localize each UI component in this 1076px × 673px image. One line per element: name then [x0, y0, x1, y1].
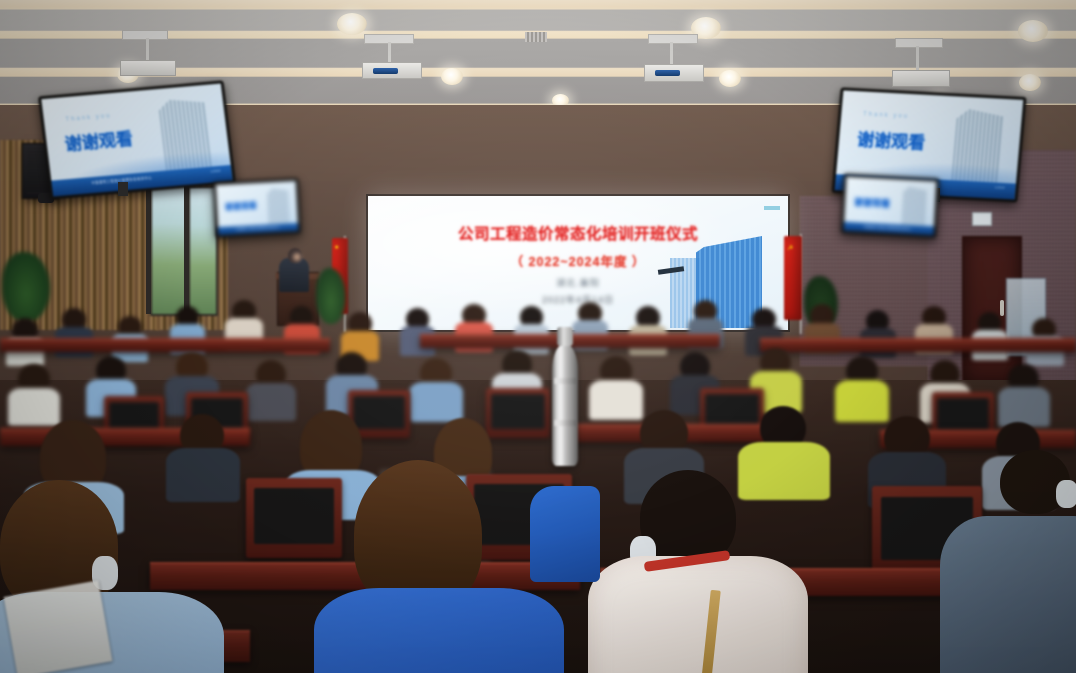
ceiling-air-diffuser [525, 32, 547, 42]
ceiling-projector-stem [388, 42, 391, 64]
left-front-tv: Thank you 谢谢观看 中国建筑工程造价管理协会培训中心 LOGO [38, 80, 236, 199]
tv-slide-text: 谢谢观看 [856, 125, 926, 153]
tv-slide-text: 谢谢观看 [63, 125, 134, 156]
tv-slide-text: 谢谢观看 [225, 200, 258, 213]
tv-panel: 谢谢观看 中国建筑工程造价管理协会培训中心 [216, 181, 299, 235]
ceiling-projector [892, 70, 950, 87]
audience-row-foreground [0, 440, 1076, 673]
tv-footer-bar: 中国建筑工程造价管理协会培训中心 [218, 223, 298, 235]
ceiling-projector [362, 62, 422, 79]
screen-place-label: 湖北.襄阳 [368, 276, 788, 289]
tv-slide-text: 谢谢观看 [854, 195, 891, 210]
tv-ghost-text: Thank you [863, 112, 910, 120]
tv-footer-tag: LOGO [995, 185, 1005, 189]
ceiling-projector [644, 64, 704, 82]
tv-wall-mount [118, 182, 128, 196]
thermos-cap [557, 327, 574, 347]
presenter-body [279, 258, 309, 292]
tv-tower-graphic [902, 186, 927, 226]
ceiling-downlight [337, 13, 367, 35]
projector-lens [655, 70, 679, 76]
ceiling-projector-mount [122, 30, 168, 40]
tv-footer-tag: LOGO [211, 169, 221, 174]
right-rear-tv: 谢谢观看 中国建筑工程造价管理协会培训中心 [840, 174, 939, 239]
ceiling-projector [120, 60, 176, 76]
screen-logo-mark [764, 206, 780, 210]
ceiling-downlight [1018, 20, 1048, 42]
tv-footer-text: 中国建筑工程造价管理协会培训中心 [864, 225, 912, 232]
ceiling-downlight [719, 70, 741, 87]
tv-panel: 谢谢观看 中国建筑工程造价管理协会培训中心 [844, 177, 937, 236]
screen-title: 公司工程造价常态化培训开班仪式 [368, 222, 788, 244]
tv-tower-graphic [267, 187, 290, 224]
thermos-ring [554, 420, 577, 426]
window-mullion [146, 182, 151, 314]
thermos-ring [554, 378, 577, 384]
left-rear-tv: 谢谢观看 中国建筑工程造价管理协会培训中心 [213, 178, 302, 238]
audience-member-sleeve [530, 486, 600, 582]
window-mullion [184, 184, 189, 314]
flag-star-icon: ★ [334, 244, 339, 251]
ceiling-projector-stem [670, 42, 673, 66]
tv-footer-text: 中国建筑工程造价管理协会培训中心 [236, 225, 281, 231]
hammer-sickle-icon: ☭ [787, 244, 793, 252]
face-mask [1056, 480, 1076, 508]
door-sign-plate [972, 212, 992, 226]
ceiling-projector-mount [895, 38, 943, 48]
handout-paper [4, 580, 113, 673]
ceiling-downlight [1019, 74, 1041, 91]
ceiling-projector-mount [648, 34, 698, 44]
tv-panel: Thank you 谢谢观看 中国建筑工程造价管理协会培训中心 LOGO [41, 84, 232, 197]
presenter-face [293, 253, 301, 261]
conference-hall-photo: 公司工程造价常态化培训开班仪式 （ 2022~2024年度 ） 湖北.襄阳 20… [0, 0, 1076, 673]
ceiling-projector-stem [916, 46, 919, 72]
projector-lens [373, 68, 397, 74]
ceiling-downlight [441, 68, 463, 85]
tv-ghost-text: Thank you [65, 113, 112, 123]
screen-subtitle: （ 2022~2024年度 ） [368, 251, 788, 270]
